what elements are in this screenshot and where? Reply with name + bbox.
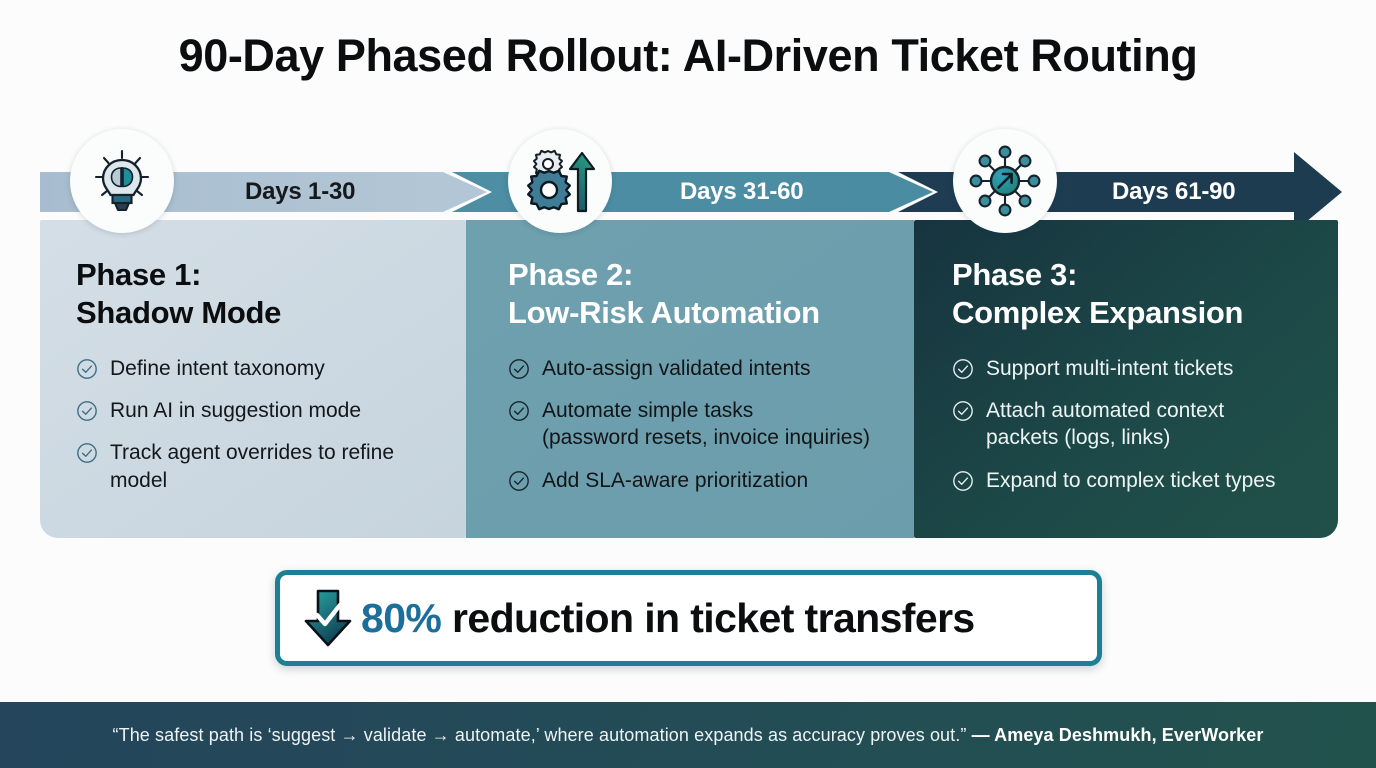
timeline-label-days-61-90: Days 61-90 [1112,178,1235,206]
timeline-label-days-31-60: Days 31-60 [680,178,803,206]
page-title: 90-Day Phased Rollout: AI-Driven Ticket … [0,30,1376,82]
list-item: Automate simple tasks (password resets, … [508,397,888,452]
check-circle-icon [508,470,530,492]
check-circle-icon [76,358,98,380]
lightbulb-brain-icon [84,143,160,219]
bullet-text: Track agent overrides to refine model [110,439,394,494]
bullet-text: Attach automated context packets (logs, … [986,397,1224,452]
phase-panel-1[interactable]: Phase 1: Shadow Mode Define intent taxon… [40,220,466,538]
phase-panel-3[interactable]: Phase 3: Complex Expansion Support multi… [914,220,1338,538]
phase-title-2: Phase 2: Low-Risk Automation [508,256,888,332]
phase-icon-network-hub [953,129,1057,233]
list-item: Add SLA-aware prioritization [508,467,888,494]
bullet-text: Define intent taxonomy [110,355,325,382]
list-item: Expand to complex ticket types [952,467,1312,494]
bullet-text: Automate simple tasks (password resets, … [542,397,870,452]
phase-panel-2[interactable]: Phase 2: Low-Risk Automation Auto-assign… [466,220,914,538]
callout-percent: 80% [361,595,441,641]
bullet-text: Auto-assign validated intents [542,355,811,382]
phase-bullets-3: Support multi-intent tickets Attach auto… [952,355,1312,494]
bullet-text: Support multi-intent tickets [986,355,1233,382]
bullet-text: Expand to complex ticket types [986,467,1275,494]
check-circle-icon [508,358,530,380]
check-circle-icon [76,400,98,422]
list-item: Auto-assign validated intents [508,355,888,382]
footer-quote: “The safest path is ‘suggest → validate … [113,725,972,745]
check-circle-icon [952,470,974,492]
bullet-text: Run AI in suggestion mode [110,397,361,424]
check-circle-icon [952,358,974,380]
down-arrow-check-icon [302,587,354,649]
footer-text: “The safest path is ‘suggest → validate … [113,725,1264,746]
list-item: Support multi-intent tickets [952,355,1312,382]
list-item: Run AI in suggestion mode [76,397,440,424]
result-callout[interactable]: 80% reduction in ticket transfers [275,570,1102,666]
network-hub-arrow-icon [966,142,1044,220]
check-circle-icon [952,400,974,422]
list-item: Track agent overrides to refine model [76,439,440,494]
phase-icon-gears-growth [508,129,612,233]
gears-growth-arrow-icon [522,143,598,219]
check-circle-icon [508,400,530,422]
phase-bullets-2: Auto-assign validated intents Automate s… [508,355,888,494]
callout-text: 80% reduction in ticket transfers [361,595,975,642]
footer-quote-bar: “The safest path is ‘suggest → validate … [0,702,1376,768]
bullet-text: Add SLA-aware prioritization [542,467,808,494]
list-item: Attach automated context packets (logs, … [952,397,1312,452]
phase-title-1: Phase 1: Shadow Mode [76,256,440,332]
phase-title-3: Phase 3: Complex Expansion [952,256,1312,332]
callout-label: reduction in ticket transfers [441,595,974,641]
phase-bullets-1: Define intent taxonomy Run AI in suggest… [76,355,440,494]
infographic-root: 90-Day Phased Rollout: AI-Driven Ticket … [0,0,1376,768]
phase-icon-lightbulb-brain [70,129,174,233]
footer-attribution: — Ameya Deshmukh, EverWorker [972,725,1264,745]
list-item: Define intent taxonomy [76,355,440,382]
timeline-label-days-1-30: Days 1-30 [245,178,355,206]
check-circle-icon [76,442,98,464]
